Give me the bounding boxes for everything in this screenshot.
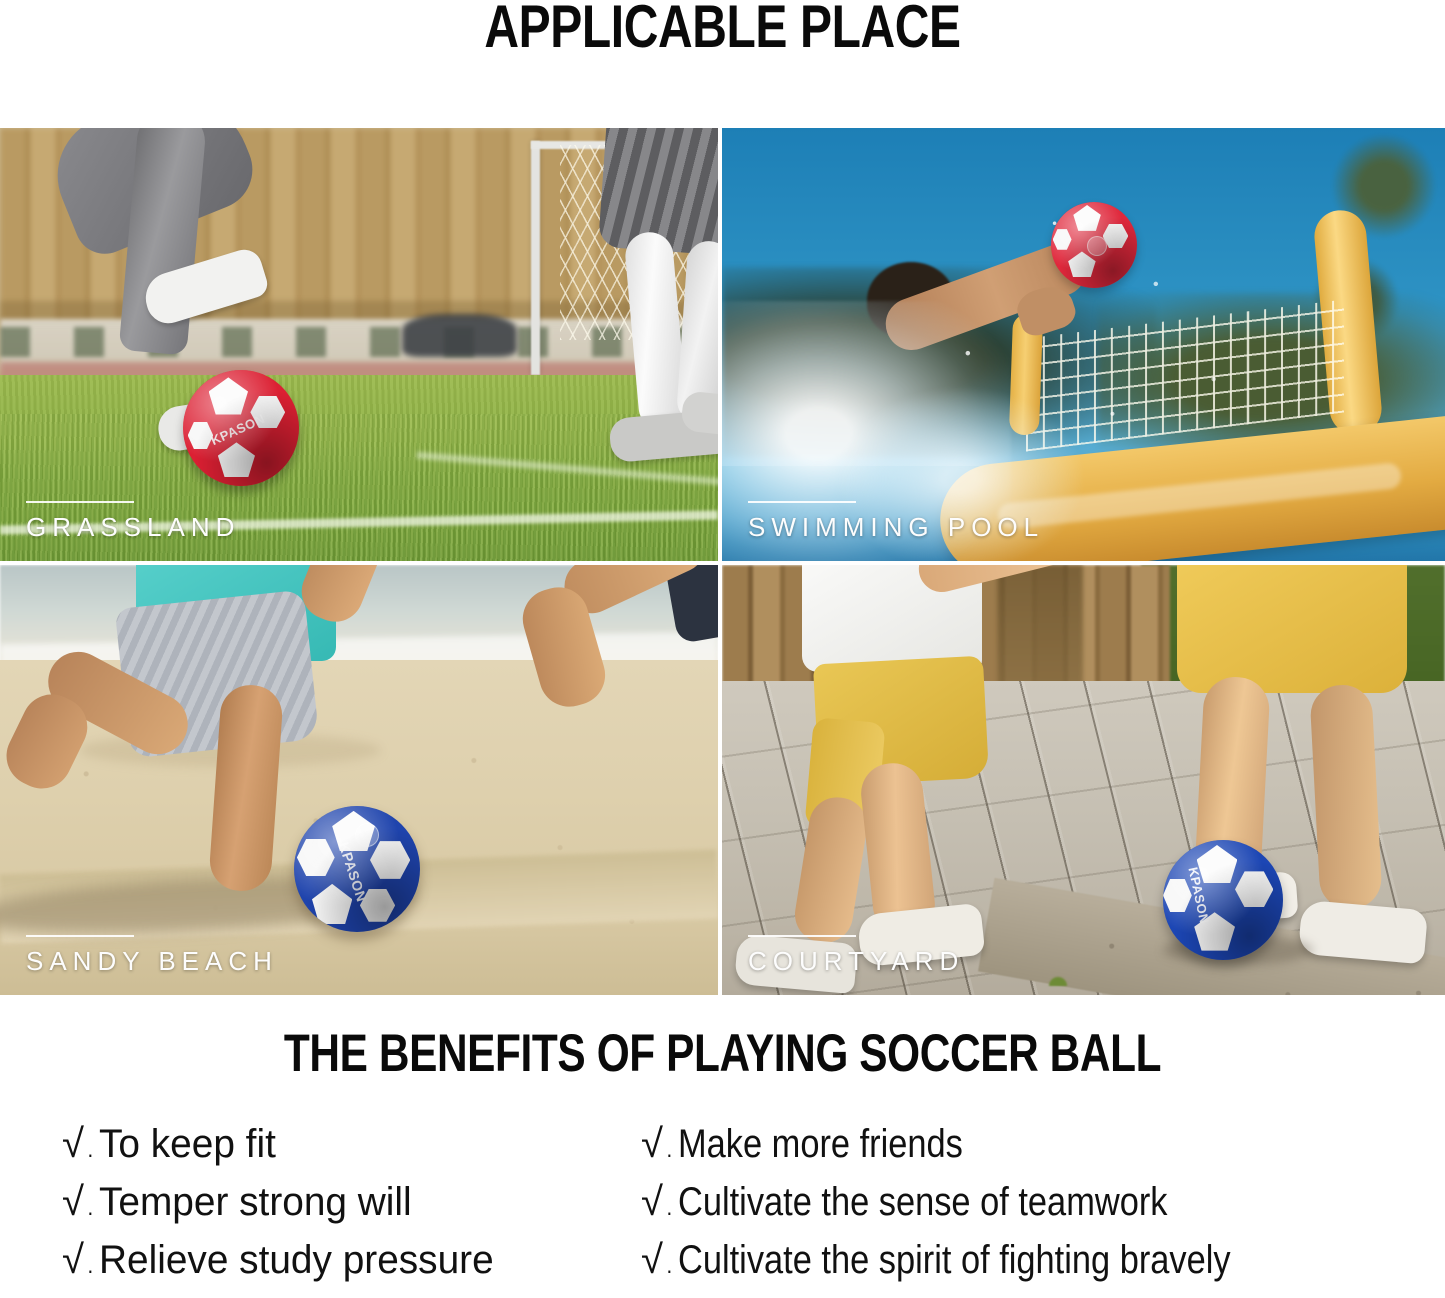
caption-text: COURTYARD <box>748 946 964 977</box>
check-icon: √. <box>641 1182 676 1222</box>
benefit-item: √. To keep fit <box>62 1124 506 1182</box>
photo-swimming-pool <box>722 128 1445 561</box>
caption-rule <box>748 501 856 503</box>
caption-rule <box>748 935 856 937</box>
soccer-ball-blue: KPASON <box>294 806 420 932</box>
caption-text: GRASSLAND <box>26 512 240 543</box>
gallery-panel-grassland: KPASON GRASSLAND <box>0 128 718 561</box>
soccer-ball-red: KPASON <box>183 370 299 486</box>
check-icon: √. <box>62 1240 97 1280</box>
applicable-place-gallery: KPASON GRASSLAND <box>0 128 1445 995</box>
benefit-text: To keep fit <box>99 1124 276 1164</box>
benefits-title: THE BENEFITS OF PLAYING SOCCER BALL <box>145 1024 1301 1084</box>
gallery-panel-swimming-pool: SWIMMING POOL <box>722 128 1445 561</box>
page-title: APPLICABLE PLACE <box>145 0 1301 58</box>
check-icon: √. <box>641 1240 676 1280</box>
benefit-item: √. Temper strong will <box>62 1182 506 1240</box>
benefit-text: Make more friends <box>678 1124 963 1164</box>
benefit-text: Cultivate the spirit of fighting bravely <box>678 1240 1231 1280</box>
benefit-text: Cultivate the sense of teamwork <box>678 1182 1167 1222</box>
caption-text: SWIMMING POOL <box>748 512 1044 543</box>
caption-rule <box>26 935 134 937</box>
soccer-ball-red <box>1051 202 1137 288</box>
panel-caption-grassland: GRASSLAND <box>26 501 240 543</box>
panel-caption-swimming-pool: SWIMMING POOL <box>748 501 1044 543</box>
photo-courtyard: KPASON <box>722 565 1445 995</box>
soccer-ball-blue: KPASON <box>1163 840 1283 960</box>
page-header: APPLICABLE PLACE <box>0 0 1445 60</box>
benefit-item: √. Relieve study pressure <box>62 1240 506 1298</box>
benefits-column-left: √. To keep fit √. Temper strong will √. … <box>62 1124 506 1298</box>
benefits-list: √. To keep fit √. Temper strong will √. … <box>0 1124 1445 1298</box>
photo-sandy-beach: KPASON <box>0 565 718 995</box>
gallery-panel-sandy-beach: KPASON SANDY BEACH <box>0 565 718 995</box>
benefits-header: THE BENEFITS OF PLAYING SOCCER BALL <box>0 1024 1445 1088</box>
benefit-text: Temper strong will <box>99 1182 412 1222</box>
caption-text: SANDY BEACH <box>26 946 278 977</box>
photo-grassland: KPASON <box>0 128 718 561</box>
benefit-item: √. Cultivate the spirit of fighting brav… <box>641 1240 1320 1298</box>
caption-rule <box>26 501 134 503</box>
benefit-text: Relieve study pressure <box>99 1240 494 1280</box>
gallery-panel-courtyard: KPASON COURTYARD <box>722 565 1445 995</box>
benefits-column-right: √. Make more friends √. Cultivate the se… <box>641 1124 1320 1298</box>
benefit-item: √. Cultivate the sense of teamwork <box>641 1182 1320 1240</box>
panel-caption-courtyard: COURTYARD <box>748 935 964 977</box>
panel-caption-sandy-beach: SANDY BEACH <box>26 935 278 977</box>
check-icon: √. <box>62 1182 97 1222</box>
check-icon: √. <box>62 1124 97 1164</box>
benefit-item: √. Make more friends <box>641 1124 1320 1182</box>
check-icon: √. <box>641 1124 676 1164</box>
